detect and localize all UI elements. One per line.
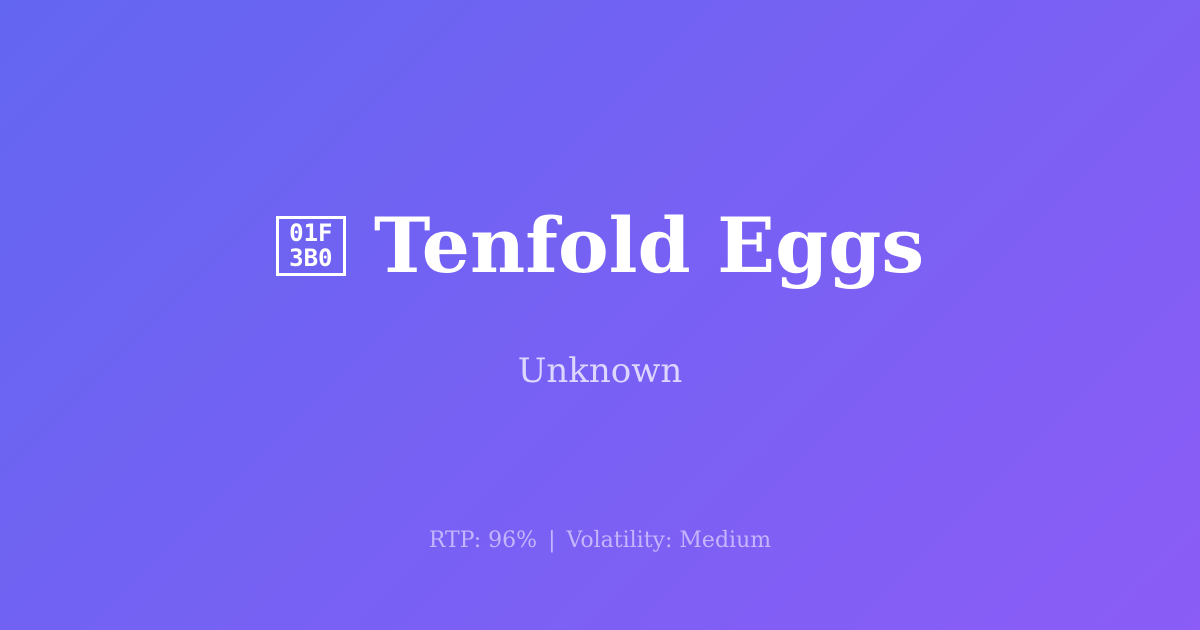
volatility-value: Medium: [679, 528, 771, 553]
game-preview-card: 01F 3B0 Tenfold Eggs Unknown RTP: 96% | …: [0, 0, 1200, 630]
tofu-codepoint-row-top: 01F: [289, 221, 332, 246]
tofu-codepoint-row-bottom: 3B0: [289, 246, 332, 271]
game-meta-line: RTP: 96% | Volatility: Medium: [0, 527, 1200, 555]
slot-machine-icon: 01F 3B0: [276, 216, 346, 276]
meta-separator: |: [544, 528, 559, 553]
rtp-label: RTP:: [429, 528, 481, 553]
title-row: 01F 3B0 Tenfold Eggs: [276, 204, 924, 288]
page-title: Tenfold Eggs: [374, 204, 924, 288]
provider-subtitle: Unknown: [518, 350, 683, 392]
rtp-value: 96%: [488, 528, 537, 553]
volatility-label: Volatility:: [567, 528, 673, 553]
